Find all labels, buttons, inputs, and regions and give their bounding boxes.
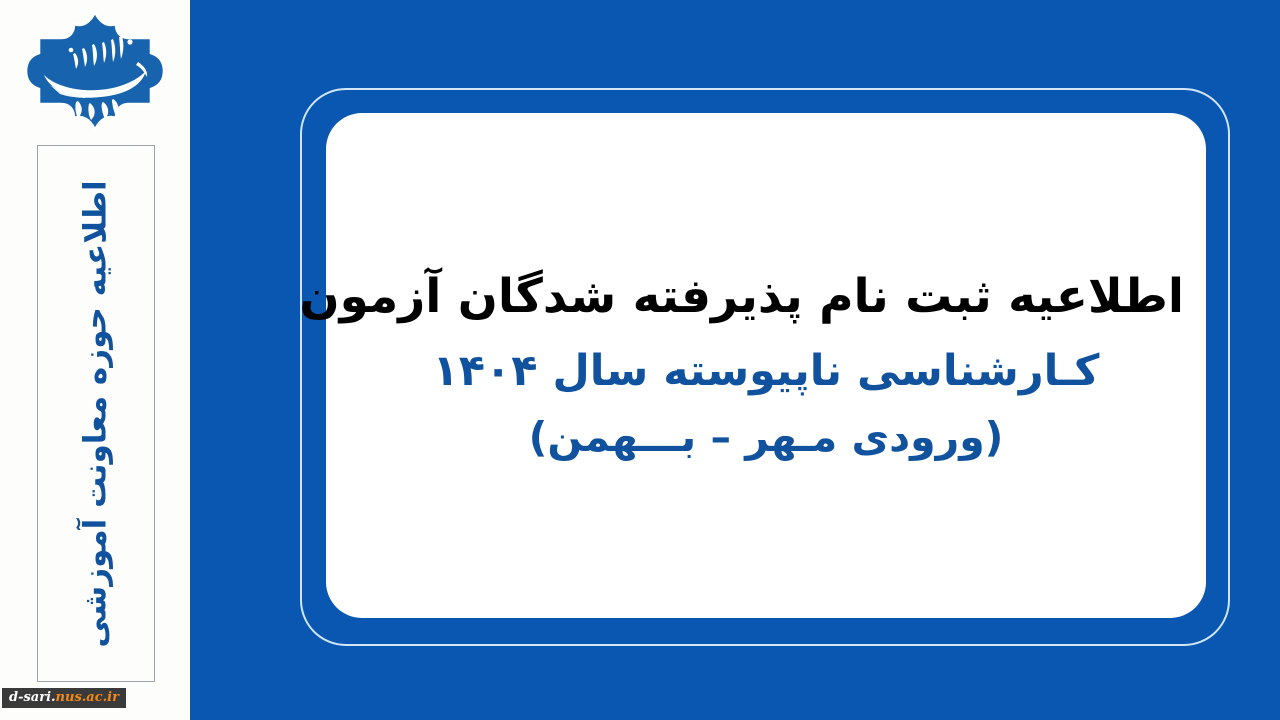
watermark-suffix: nus.ac.ir <box>56 690 119 705</box>
announcement-poster: اطلاعیه ثبت نام پذیرفته شدگان آزمون کـار… <box>0 0 1280 720</box>
announcement-card: اطلاعیه ثبت نام پذیرفته شدگان آزمون کـار… <box>326 113 1206 618</box>
headline-line-2: کـارشناسی ناپیوسته سال ۱۴۰۴ <box>348 338 1184 405</box>
university-seal-logo-icon <box>20 9 170 137</box>
left-sidebar: اطلاعیه حوزه معاونت آموزشی <box>0 0 190 720</box>
headline-block: اطلاعیه ثبت نام پذیرفته شدگان آزمون کـار… <box>348 261 1184 470</box>
logo-container <box>0 8 190 138</box>
vertical-notice-text: اطلاعیه حوزه معاونت آموزشی <box>81 180 112 647</box>
headline-line-3: (ورودی مـهر – بـــهمن) <box>348 406 1184 470</box>
watermark-prefix: d-sari. <box>9 690 56 705</box>
site-watermark: d-sari.nus.ac.ir <box>2 688 126 708</box>
vertical-notice-box: اطلاعیه حوزه معاونت آموزشی <box>37 145 155 682</box>
poster-blue-stage: اطلاعیه ثبت نام پذیرفته شدگان آزمون کـار… <box>190 0 1280 720</box>
headline-line-1: اطلاعیه ثبت نام پذیرفته شدگان آزمون <box>348 261 1184 334</box>
